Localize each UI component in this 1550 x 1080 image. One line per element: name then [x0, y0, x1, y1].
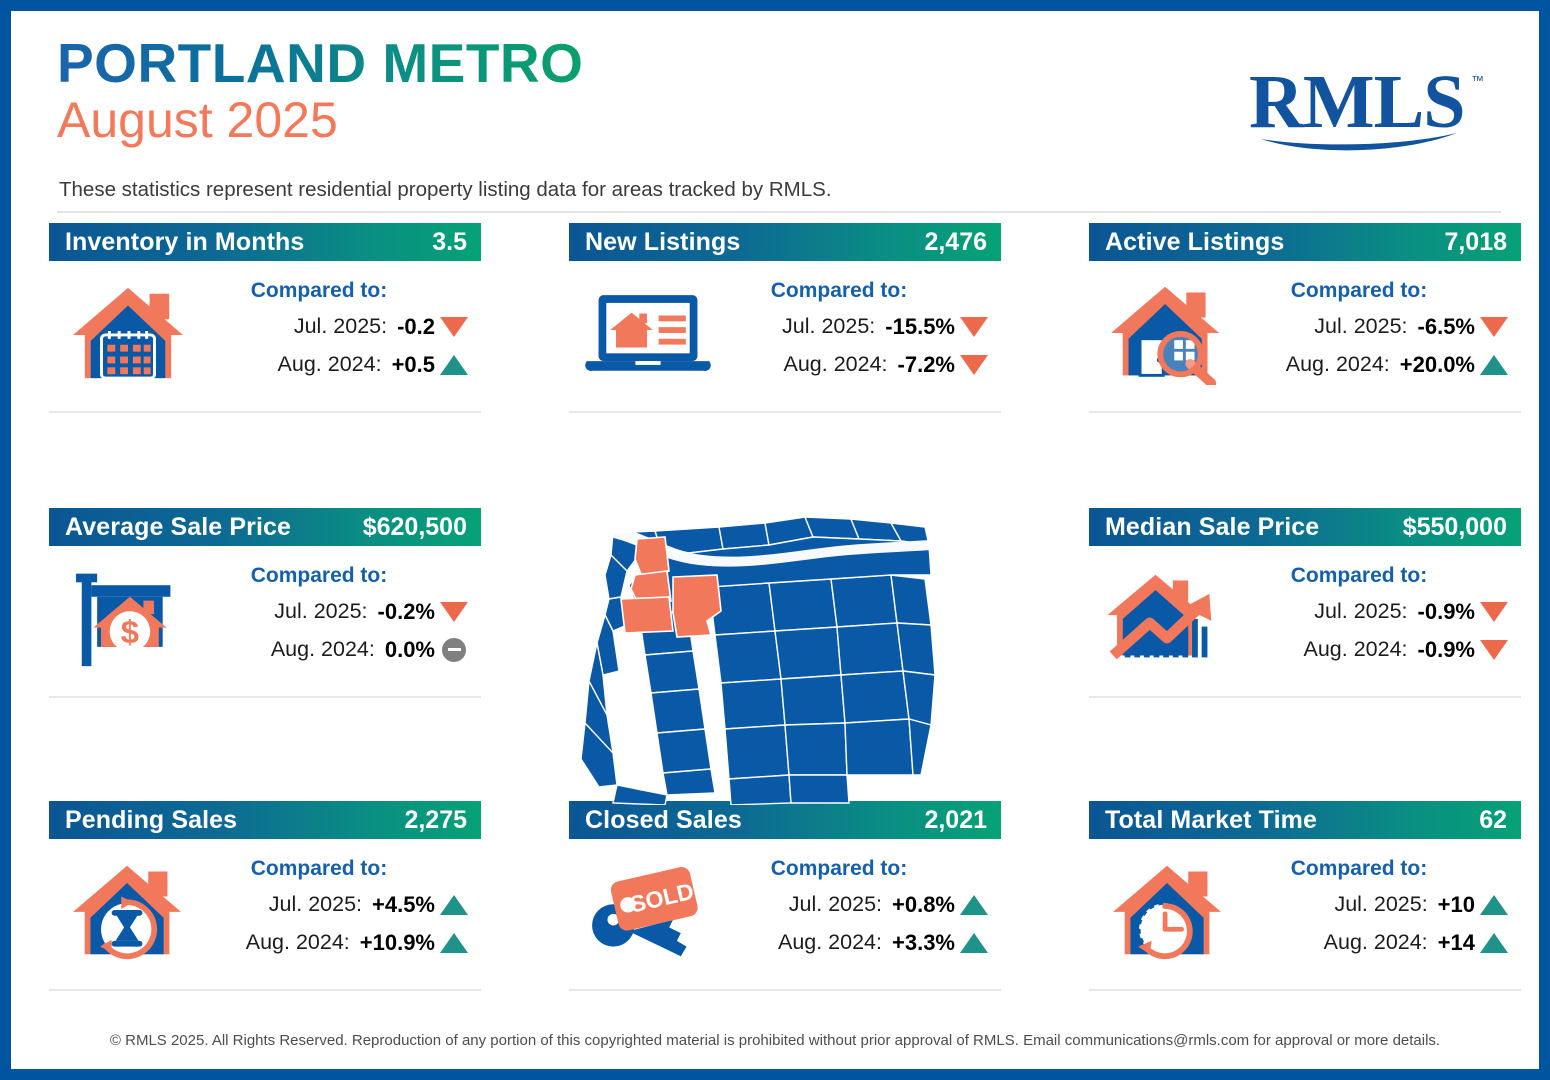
card-divider — [569, 411, 1001, 413]
comparison-label: Jul. 2025: — [269, 892, 362, 917]
comparison-value: -0.9% — [1418, 637, 1475, 663]
compared-to-label: Compared to: — [727, 857, 993, 881]
poster-frame: PORTLAND METRO August 2025 These statist… — [0, 0, 1550, 1080]
card-divider — [1089, 989, 1521, 991]
card-title: Pending Sales — [65, 806, 237, 835]
page-description: These statistics represent residential p… — [59, 178, 832, 202]
card-body: Compared to: Jul. 2025: +4.5% Aug. 2024:… — [49, 839, 481, 987]
svg-text:RMLS: RMLS — [1249, 60, 1465, 144]
comparison-value: -0.2 — [397, 314, 435, 340]
card-title: Closed Sales — [585, 806, 742, 835]
compared-to-label: Compared to: — [207, 857, 473, 881]
comparison-label: Jul. 2025: — [782, 314, 875, 339]
comparison-row: Jul. 2025: -0.2 — [207, 310, 473, 343]
card-divider — [1089, 411, 1521, 413]
trend-up-icon — [435, 933, 473, 953]
svg-text:$: $ — [121, 613, 139, 650]
comparison-value: +4.5% — [372, 892, 435, 918]
comparison-row: Jul. 2025: +4.5% — [207, 888, 473, 921]
comparison-value: +14 — [1438, 930, 1475, 956]
title-block: PORTLAND METRO August 2025 — [57, 31, 583, 149]
comparison-value: +20.0% — [1400, 352, 1475, 378]
card-title: New Listings — [585, 228, 740, 257]
trend-up-icon — [1475, 895, 1513, 915]
compared-to-label: Compared to: — [207, 279, 473, 303]
card-divider — [49, 411, 481, 413]
card-body: Compared to: Jul. 2025: -0.9% Aug. 2024:… — [1089, 546, 1521, 694]
footer-copyright: © RMLS 2025. All Rights Reserved. Reprod… — [17, 1032, 1533, 1049]
card-title: Active Listings — [1105, 228, 1284, 257]
comparison-row: Jul. 2025: +10 — [1247, 888, 1513, 921]
card-body: Compared to: Jul. 2025: -15.5% Aug. 2024… — [569, 261, 1001, 409]
card-new-listings: New Listings 2,476 — [569, 223, 1001, 413]
card-divider — [1089, 696, 1521, 698]
card-closed-sales: Closed Sales 2,021 — [569, 801, 1001, 991]
comparison-value: +0.8% — [892, 892, 955, 918]
card-value: 2,275 — [404, 806, 467, 835]
trend-up-icon — [955, 933, 993, 953]
card-header: Active Listings 7,018 — [1089, 223, 1521, 261]
card-divider — [569, 989, 1001, 991]
card-inventory-in-months: Inventory in Months 3.5 — [49, 223, 481, 413]
trend-down-icon — [435, 317, 473, 337]
comparison-row: Aug. 2024: +14 — [1247, 926, 1513, 959]
card-header: Closed Sales 2,021 — [569, 801, 1001, 839]
comparison-label: Jul. 2025: — [789, 892, 882, 917]
sold-keys-icon: SOLD — [569, 839, 727, 969]
compared-to-label: Compared to: — [1247, 564, 1513, 588]
card-value: $620,500 — [363, 513, 467, 542]
comparison-row: Jul. 2025: -6.5% — [1247, 310, 1513, 343]
comparison-row: Aug. 2024: -7.2% — [727, 348, 993, 381]
card-value: 3.5 — [432, 228, 467, 257]
page-subtitle-month: August 2025 — [57, 91, 583, 149]
card-value: 2,476 — [924, 228, 987, 257]
comparison-label: Jul. 2025: — [294, 314, 387, 339]
stats-grid: Inventory in Months 3.5 — [49, 223, 1507, 1043]
comparison-value: -15.5% — [885, 314, 955, 340]
comparison-value: -0.2% — [378, 599, 435, 625]
card-title: Average Sale Price — [65, 513, 291, 542]
comparison-value: +3.3% — [892, 930, 955, 956]
comparison-label: Aug. 2024: — [784, 352, 888, 377]
comparison-row: Jul. 2025: -0.9% — [1247, 595, 1513, 628]
compared-to-label: Compared to: — [207, 564, 473, 588]
card-pending-sales: Pending Sales 2,275 — [49, 801, 481, 991]
laptop-listing-icon — [569, 261, 727, 391]
card-title: Median Sale Price — [1105, 513, 1319, 542]
card-body: $ Compared to: Jul. 2025: -0.2% Aug. 202… — [49, 546, 481, 694]
comparison-row: Jul. 2025: +0.8% — [727, 888, 993, 921]
oregon-county-map — [569, 475, 1001, 805]
card-active-listings: Active Listings 7,018 — [1089, 223, 1521, 413]
comparison-row: Jul. 2025: -15.5% — [727, 310, 993, 343]
card-total-market-time: Total Market Time 62 — [1089, 801, 1521, 991]
card-value: $550,000 — [1403, 513, 1507, 542]
comparison-label: Jul. 2025: — [1314, 599, 1407, 624]
comparison-row: Jul. 2025: -0.2% — [207, 595, 473, 628]
comparison-row: Aug. 2024: +3.3% — [727, 926, 993, 959]
trend-up-icon — [435, 895, 473, 915]
comparison-label: Jul. 2025: — [1314, 314, 1407, 339]
page-title: PORTLAND METRO — [57, 31, 583, 95]
card-header: Pending Sales 2,275 — [49, 801, 481, 839]
trend-up-icon — [1475, 933, 1513, 953]
comparison-value: -0.9% — [1418, 599, 1475, 625]
card-divider — [49, 989, 481, 991]
card-value: 62 — [1479, 806, 1507, 835]
comparison-value: 0.0% — [385, 637, 435, 663]
comparison-label: Aug. 2024: — [1286, 352, 1390, 377]
comparison-row: Aug. 2024: 0.0% — [207, 633, 473, 666]
comparison-block: Compared to: Jul. 2025: +0.8% Aug. 2024:… — [727, 839, 1001, 964]
compared-to-label: Compared to: — [1247, 857, 1513, 881]
trend-up-icon — [435, 355, 473, 375]
house-magnifier-icon — [1089, 261, 1247, 391]
comparison-value: -7.2% — [898, 352, 955, 378]
card-body: Compared to: Jul. 2025: +10 Aug. 2024: +… — [1089, 839, 1521, 987]
svg-text:™: ™ — [1471, 73, 1484, 88]
comparison-label: Aug. 2024: — [1324, 930, 1428, 955]
comparison-row: Aug. 2024: +0.5 — [207, 348, 473, 381]
card-body: Compared to: Jul. 2025: -0.2 Aug. 2024: … — [49, 261, 481, 409]
page-header: PORTLAND METRO August 2025 These statist… — [49, 31, 1507, 201]
comparison-label: Aug. 2024: — [271, 637, 375, 662]
card-title: Inventory in Months — [65, 228, 304, 257]
comparison-value: +10.9% — [360, 930, 435, 956]
comparison-label: Aug. 2024: — [1304, 637, 1408, 662]
card-value: 2,021 — [924, 806, 987, 835]
house-clock-icon — [1089, 839, 1247, 969]
comparison-value: -6.5% — [1418, 314, 1475, 340]
card-body: Compared to: Jul. 2025: -6.5% Aug. 2024:… — [1089, 261, 1521, 409]
card-header: Inventory in Months 3.5 — [49, 223, 481, 261]
comparison-block: Compared to: Jul. 2025: +10 Aug. 2024: +… — [1247, 839, 1521, 964]
comparison-label: Aug. 2024: — [246, 930, 350, 955]
trend-down-icon — [1475, 317, 1513, 337]
header-divider — [57, 211, 1501, 213]
card-title: Total Market Time — [1105, 806, 1317, 835]
trend-up-icon — [1475, 355, 1513, 375]
compared-to-label: Compared to: — [1247, 279, 1513, 303]
comparison-block: Compared to: Jul. 2025: -15.5% Aug. 2024… — [727, 261, 1001, 386]
card-header: Average Sale Price $620,500 — [49, 508, 481, 546]
comparison-block: Compared to: Jul. 2025: -0.2 Aug. 2024: … — [207, 261, 481, 386]
comparison-label: Jul. 2025: — [1334, 892, 1427, 917]
house-calendar-icon — [49, 261, 207, 391]
comparison-block: Compared to: Jul. 2025: +4.5% Aug. 2024:… — [207, 839, 481, 964]
trend-down-icon — [1475, 602, 1513, 622]
card-divider — [49, 696, 481, 698]
compared-to-label: Compared to: — [727, 279, 993, 303]
comparison-value: +0.5 — [392, 352, 435, 378]
card-body: SOLD Compared to: Jul. 2025: +0.8% Aug. … — [569, 839, 1001, 987]
card-header: Median Sale Price $550,000 — [1089, 508, 1521, 546]
comparison-label: Aug. 2024: — [778, 930, 882, 955]
rmls-logo: RMLS ™ — [1249, 59, 1499, 155]
comparison-row: Aug. 2024: -0.9% — [1247, 633, 1513, 666]
card-average-sale-price: Average Sale Price $620,500 $ — [49, 508, 481, 698]
comparison-block: Compared to: Jul. 2025: -0.9% Aug. 2024:… — [1247, 546, 1521, 671]
trend-down-icon — [955, 355, 993, 375]
yard-sign-dollar-icon: $ — [49, 546, 207, 676]
house-arrow-chart-icon — [1089, 546, 1247, 676]
trend-flat-icon — [435, 638, 473, 662]
card-median-sale-price: Median Sale Price $550,000 — [1089, 508, 1521, 698]
trend-down-icon — [435, 602, 473, 622]
comparison-block: Compared to: Jul. 2025: -6.5% Aug. 2024:… — [1247, 261, 1521, 386]
comparison-row: Aug. 2024: +10.9% — [207, 926, 473, 959]
comparison-label: Aug. 2024: — [278, 352, 382, 377]
comparison-row: Aug. 2024: +20.0% — [1247, 348, 1513, 381]
comparison-label: Jul. 2025: — [274, 599, 367, 624]
trend-down-icon — [955, 317, 993, 337]
trend-up-icon — [955, 895, 993, 915]
card-header: Total Market Time 62 — [1089, 801, 1521, 839]
house-hourglass-icon — [49, 839, 207, 969]
trend-down-icon — [1475, 640, 1513, 660]
card-value: 7,018 — [1444, 228, 1507, 257]
poster-inner: PORTLAND METRO August 2025 These statist… — [17, 17, 1533, 1063]
card-header: New Listings 2,476 — [569, 223, 1001, 261]
comparison-value: +10 — [1438, 892, 1475, 918]
comparison-block: Compared to: Jul. 2025: -0.2% Aug. 2024:… — [207, 546, 481, 671]
